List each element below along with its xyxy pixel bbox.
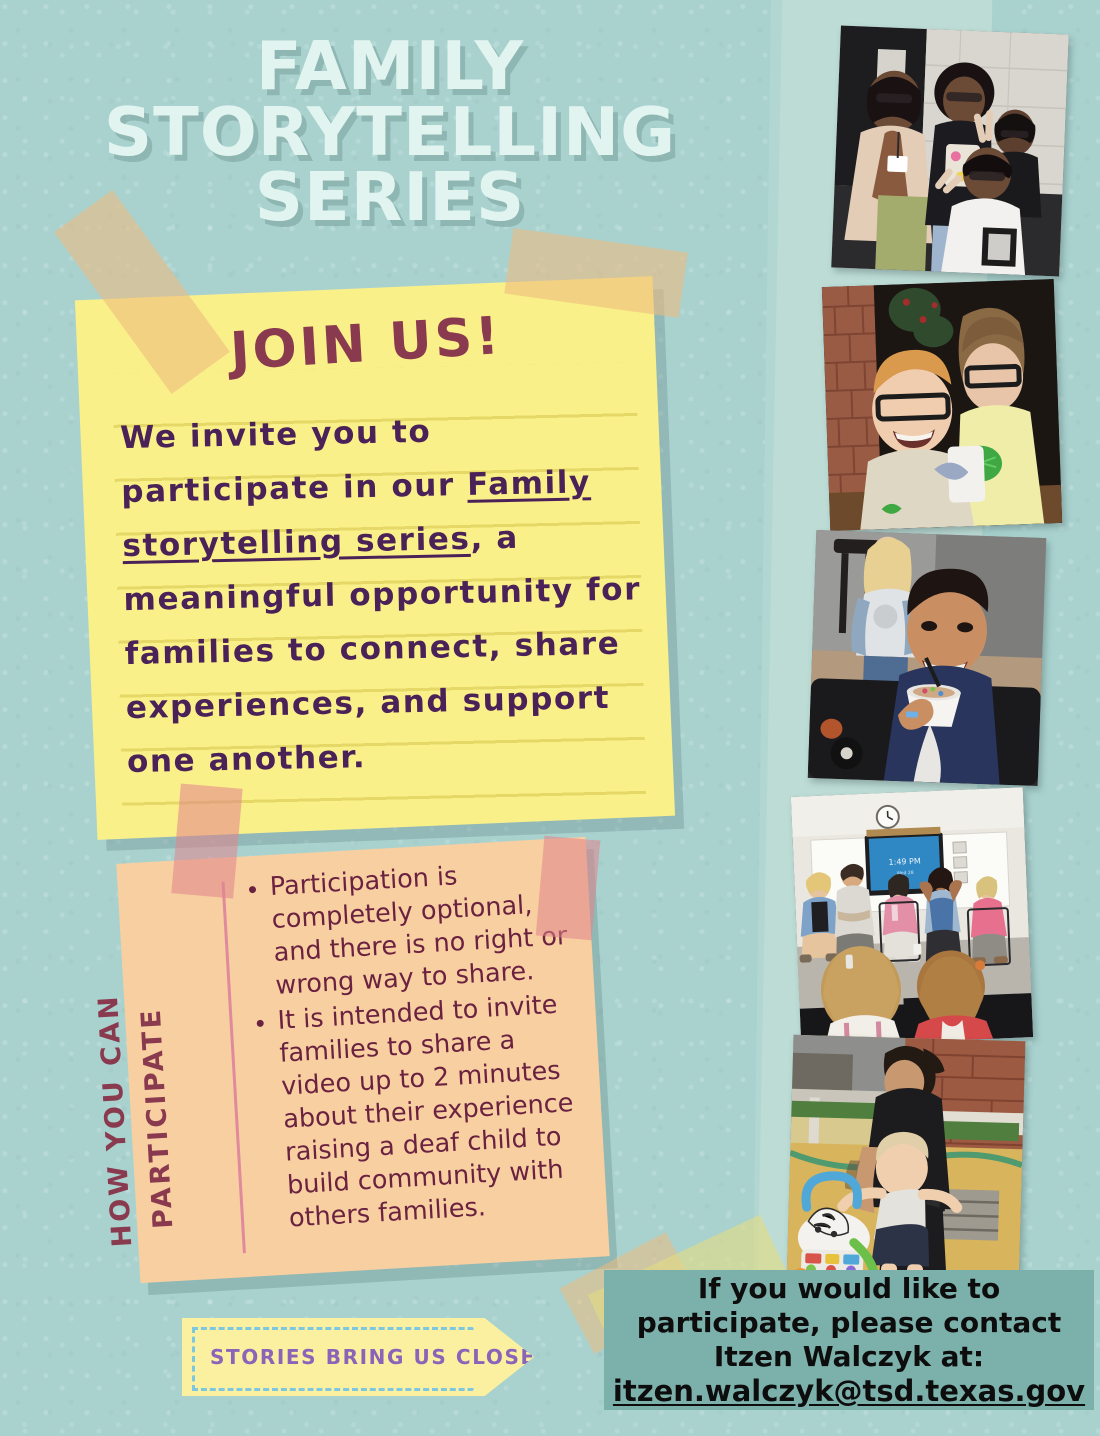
photo-group-of-four	[831, 26, 1069, 277]
photo-boy-wheelchair-icecream	[808, 530, 1047, 786]
svg-text:1:49 PM: 1:49 PM	[888, 857, 921, 867]
photo-2-image	[822, 279, 1062, 531]
contact-line-3: Itzen Walczyk at:	[714, 1340, 984, 1374]
stories-banner: Stories bring us closer	[182, 1318, 534, 1396]
join-us-note: JOIN US! We invite you to participate in…	[75, 276, 675, 840]
photo-3-image	[808, 530, 1047, 786]
contact-line-1: If you would like to	[698, 1272, 1000, 1306]
contact-email-link[interactable]: itzen.walczyk@tsd.texas.gov	[613, 1374, 1085, 1408]
contact-box: If you would like to participate, please…	[604, 1270, 1094, 1410]
poster-canvas: FAMILY STORYTELLING SERIES JOIN US! We i…	[0, 0, 1100, 1436]
list-item: Participation is completely optional, an…	[269, 854, 580, 1003]
photo-toddler-walker	[787, 1035, 1026, 1291]
photo-4-image: 1:49 PM Wed 28	[791, 787, 1033, 1046]
photo-discussion-circle: 1:49 PM Wed 28	[791, 787, 1033, 1046]
participate-bullet-list: Participation is completely optional, an…	[243, 854, 594, 1239]
list-item: It is intended to invite families to sha…	[277, 987, 594, 1235]
poster-title: FAMILY STORYTELLING SERIES	[40, 34, 740, 231]
note-body-part-1: We invite you to participate in our	[120, 414, 468, 510]
photo-two-boys	[822, 279, 1062, 531]
photo-1-image	[831, 26, 1069, 277]
title-line-1: FAMILY	[40, 34, 740, 100]
note-body: We invite you to participate in our Fami…	[120, 400, 650, 789]
title-line-3: SERIES	[40, 165, 740, 231]
title-line-2: STORYTELLING	[40, 100, 740, 166]
photo-5-image	[787, 1035, 1026, 1291]
contact-line-2: participate, please contact	[637, 1306, 1062, 1340]
banner-text: Stories bring us closer	[182, 1345, 553, 1369]
participate-card: How you can participate Participation is…	[116, 837, 609, 1283]
